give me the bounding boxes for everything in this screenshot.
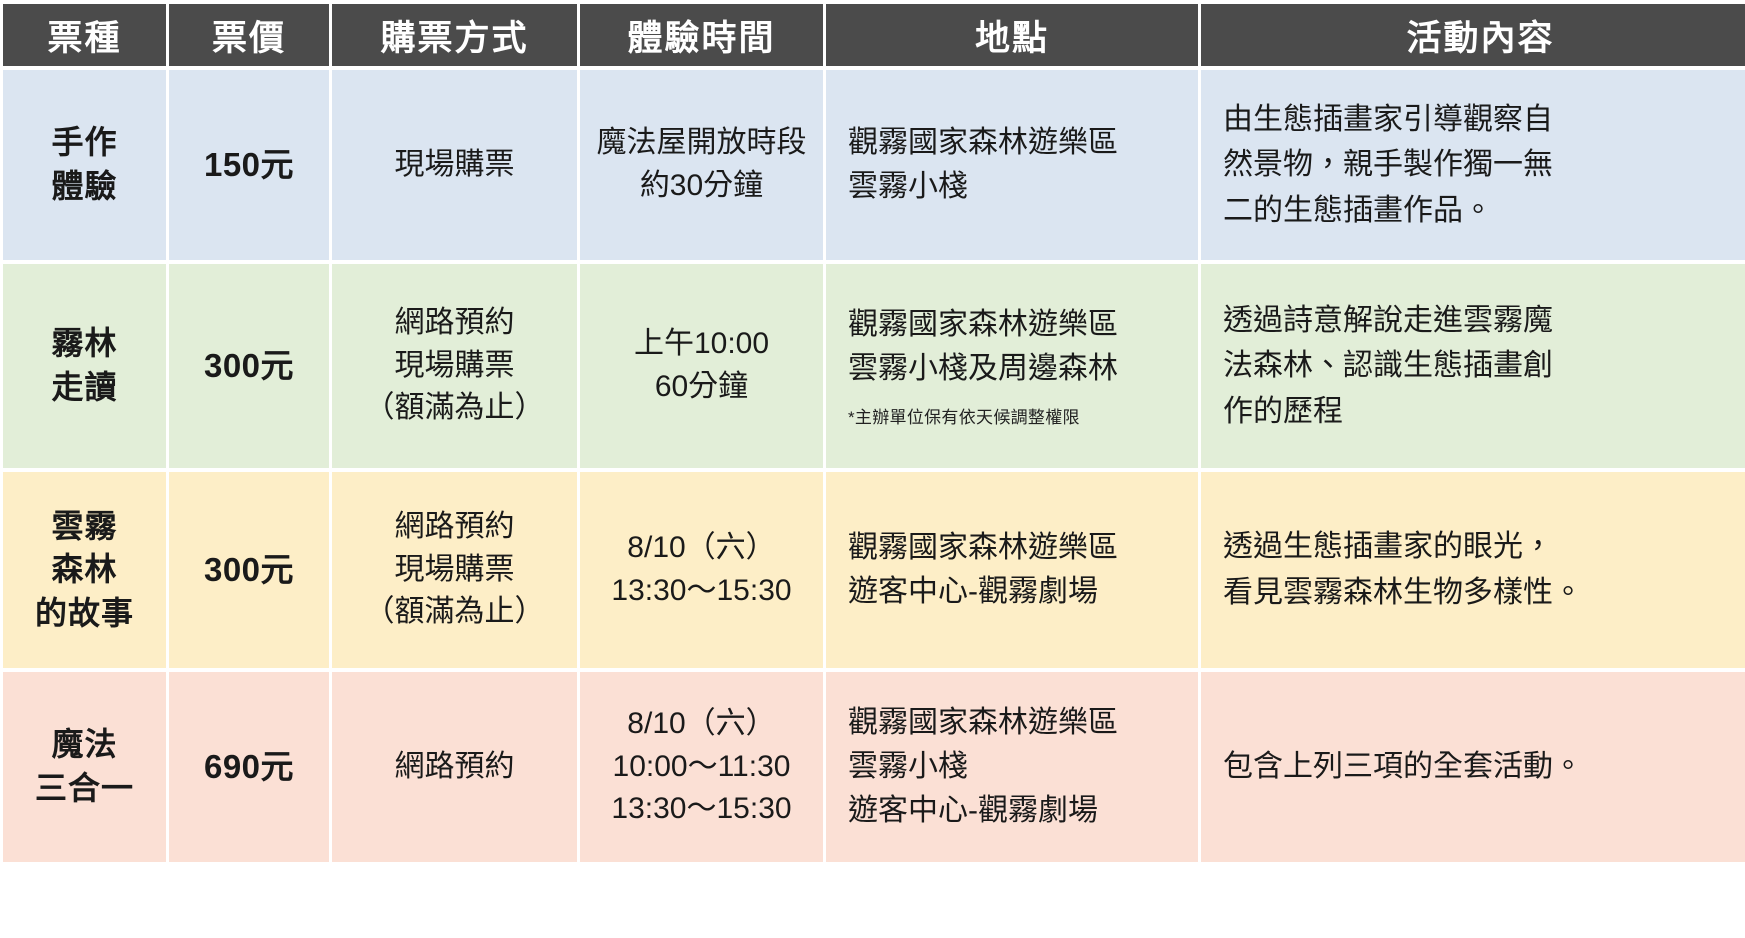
cell-purchase-method: 現場購票: [332, 70, 577, 260]
cell-ticket-type: 霧林 走讀: [3, 264, 166, 468]
content-line: 透過生態插畫家的眼光，: [1223, 524, 1744, 570]
table-row: 手作 體驗 150元 現場購票 魔法屋開放時段 約30分鐘 觀霧國家森林遊樂區 …: [3, 70, 1745, 260]
location-line: 觀霧國家森林遊樂區: [848, 121, 1182, 165]
content-line: 包含上列三項的全套活動。: [1223, 744, 1744, 790]
column-header-method: 購票方式: [332, 4, 577, 66]
method-line: （額滿為止）: [342, 387, 567, 430]
type-line: 走讀: [13, 366, 156, 410]
location-line: 雲霧小棧及周邊森林: [848, 347, 1182, 391]
content-line: 由生態插畫家引導觀察自: [1223, 97, 1744, 143]
type-line: 森林: [13, 548, 156, 592]
cell-activity-content: 透過生態插畫家的眼光， 看見雲霧森林生物多樣性。: [1201, 472, 1745, 668]
cell-location: 觀霧國家森林遊樂區 雲霧小棧: [826, 70, 1198, 260]
location-lines: 觀霧國家森林遊樂區 雲霧小棧: [848, 121, 1182, 209]
cell-purchase-method: 網路預約: [332, 672, 577, 862]
time-line: 8/10（六）: [590, 527, 813, 570]
content-line: 法森林、認識生態插畫創: [1223, 343, 1744, 389]
type-line: 魔法: [13, 723, 156, 767]
location-lines: 觀霧國家森林遊樂區 遊客中心-觀霧劇場: [848, 526, 1182, 614]
time-line: 上午10:00: [590, 323, 813, 366]
cell-price: 300元: [169, 472, 329, 668]
method-line: 現場購票: [342, 345, 567, 388]
time-line: 8/10（六）: [590, 703, 813, 746]
cell-location: 觀霧國家森林遊樂區 雲霧小棧及周邊森林 *主辦單位保有依天候調整權限: [826, 264, 1198, 468]
method-line: 網路預約: [342, 746, 567, 789]
content-line: 作的歷程: [1223, 389, 1744, 435]
cell-ticket-type: 魔法 三合一: [3, 672, 166, 862]
location-line: 遊客中心-觀霧劇場: [848, 789, 1182, 833]
location-lines: 觀霧國家森林遊樂區 雲霧小棧及周邊森林: [848, 303, 1182, 391]
type-line: 手作: [13, 121, 156, 165]
cell-activity-content: 包含上列三項的全套活動。: [1201, 672, 1745, 862]
type-line: 霧林: [13, 322, 156, 366]
header-row: 票種 票價 購票方式 體驗時間 地點 活動內容: [3, 4, 1745, 66]
table-row: 霧林 走讀 300元 網路預約 現場購票 （額滿為止） 上午10:00 60分鐘…: [3, 264, 1745, 468]
method-line: （額滿為止）: [342, 591, 567, 634]
location-line: 觀霧國家森林遊樂區: [848, 701, 1182, 745]
time-line: 13:30〜15:30: [590, 570, 813, 613]
location-line: 雲霧小棧: [848, 745, 1182, 789]
ticket-pricing-table: 票種 票價 購票方式 體驗時間 地點 活動內容 手作 體驗 150元 現場購票 …: [0, 0, 1745, 866]
content-line: 看見雲霧森林生物多樣性。: [1223, 570, 1744, 616]
content-line: 二的生態插畫作品。: [1223, 188, 1744, 234]
cell-activity-content: 由生態插畫家引導觀察自 然景物，親手製作獨一無 二的生態插畫作品。: [1201, 70, 1745, 260]
cell-ticket-type: 手作 體驗: [3, 70, 166, 260]
location-line: 觀霧國家森林遊樂區: [848, 526, 1182, 570]
table-row: 雲霧 森林 的故事 300元 網路預約 現場購票 （額滿為止） 8/10（六） …: [3, 472, 1745, 668]
type-line: 雲霧: [13, 505, 156, 549]
table-body: 手作 體驗 150元 現場購票 魔法屋開放時段 約30分鐘 觀霧國家森林遊樂區 …: [3, 70, 1745, 862]
location-footnote: *主辦單位保有依天候調整權限: [848, 407, 1182, 429]
method-line: 網路預約: [342, 302, 567, 345]
time-line: 約30分鐘: [590, 165, 813, 208]
time-line: 60分鐘: [590, 366, 813, 409]
time-line: 魔法屋開放時段: [590, 122, 813, 165]
cell-activity-content: 透過詩意解說走進雲霧魔 法森林、認識生態插畫創 作的歷程: [1201, 264, 1745, 468]
method-line: 現場購票: [342, 144, 567, 187]
cell-experience-time: 魔法屋開放時段 約30分鐘: [580, 70, 823, 260]
column-header-place: 地點: [826, 4, 1198, 66]
type-line: 的故事: [13, 592, 156, 636]
content-line: 然景物，親手製作獨一無: [1223, 142, 1744, 188]
column-header-time: 體驗時間: [580, 4, 823, 66]
location-line: 雲霧小棧: [848, 165, 1182, 209]
content-line: 透過詩意解說走進雲霧魔: [1223, 298, 1744, 344]
method-line: 網路預約: [342, 506, 567, 549]
cell-experience-time: 8/10（六） 13:30〜15:30: [580, 472, 823, 668]
cell-purchase-method: 網路預約 現場購票 （額滿為止）: [332, 264, 577, 468]
location-lines: 觀霧國家森林遊樂區 雲霧小棧 遊客中心-觀霧劇場: [848, 701, 1182, 832]
cell-price: 150元: [169, 70, 329, 260]
method-line: 現場購票: [342, 549, 567, 592]
location-line: 觀霧國家森林遊樂區: [848, 303, 1182, 347]
cell-experience-time: 上午10:00 60分鐘: [580, 264, 823, 468]
cell-price: 690元: [169, 672, 329, 862]
cell-location: 觀霧國家森林遊樂區 雲霧小棧 遊客中心-觀霧劇場: [826, 672, 1198, 862]
time-line: 13:30〜15:30: [590, 788, 813, 831]
table-header: 票種 票價 購票方式 體驗時間 地點 活動內容: [3, 4, 1745, 66]
cell-ticket-type: 雲霧 森林 的故事: [3, 472, 166, 668]
type-line: 體驗: [13, 165, 156, 209]
column-header-price: 票價: [169, 4, 329, 66]
location-line: 遊客中心-觀霧劇場: [848, 570, 1182, 614]
cell-experience-time: 8/10（六） 10:00〜11:30 13:30〜15:30: [580, 672, 823, 862]
column-header-content: 活動內容: [1201, 4, 1745, 66]
pricing-table-container: 票種 票價 購票方式 體驗時間 地點 活動內容 手作 體驗 150元 現場購票 …: [0, 0, 1745, 938]
cell-location: 觀霧國家森林遊樂區 遊客中心-觀霧劇場: [826, 472, 1198, 668]
cell-price: 300元: [169, 264, 329, 468]
cell-purchase-method: 網路預約 現場購票 （額滿為止）: [332, 472, 577, 668]
column-header-type: 票種: [3, 4, 166, 66]
time-line: 10:00〜11:30: [590, 746, 813, 789]
type-line: 三合一: [13, 767, 156, 811]
table-row: 魔法 三合一 690元 網路預約 8/10（六） 10:00〜11:30 13:…: [3, 672, 1745, 862]
